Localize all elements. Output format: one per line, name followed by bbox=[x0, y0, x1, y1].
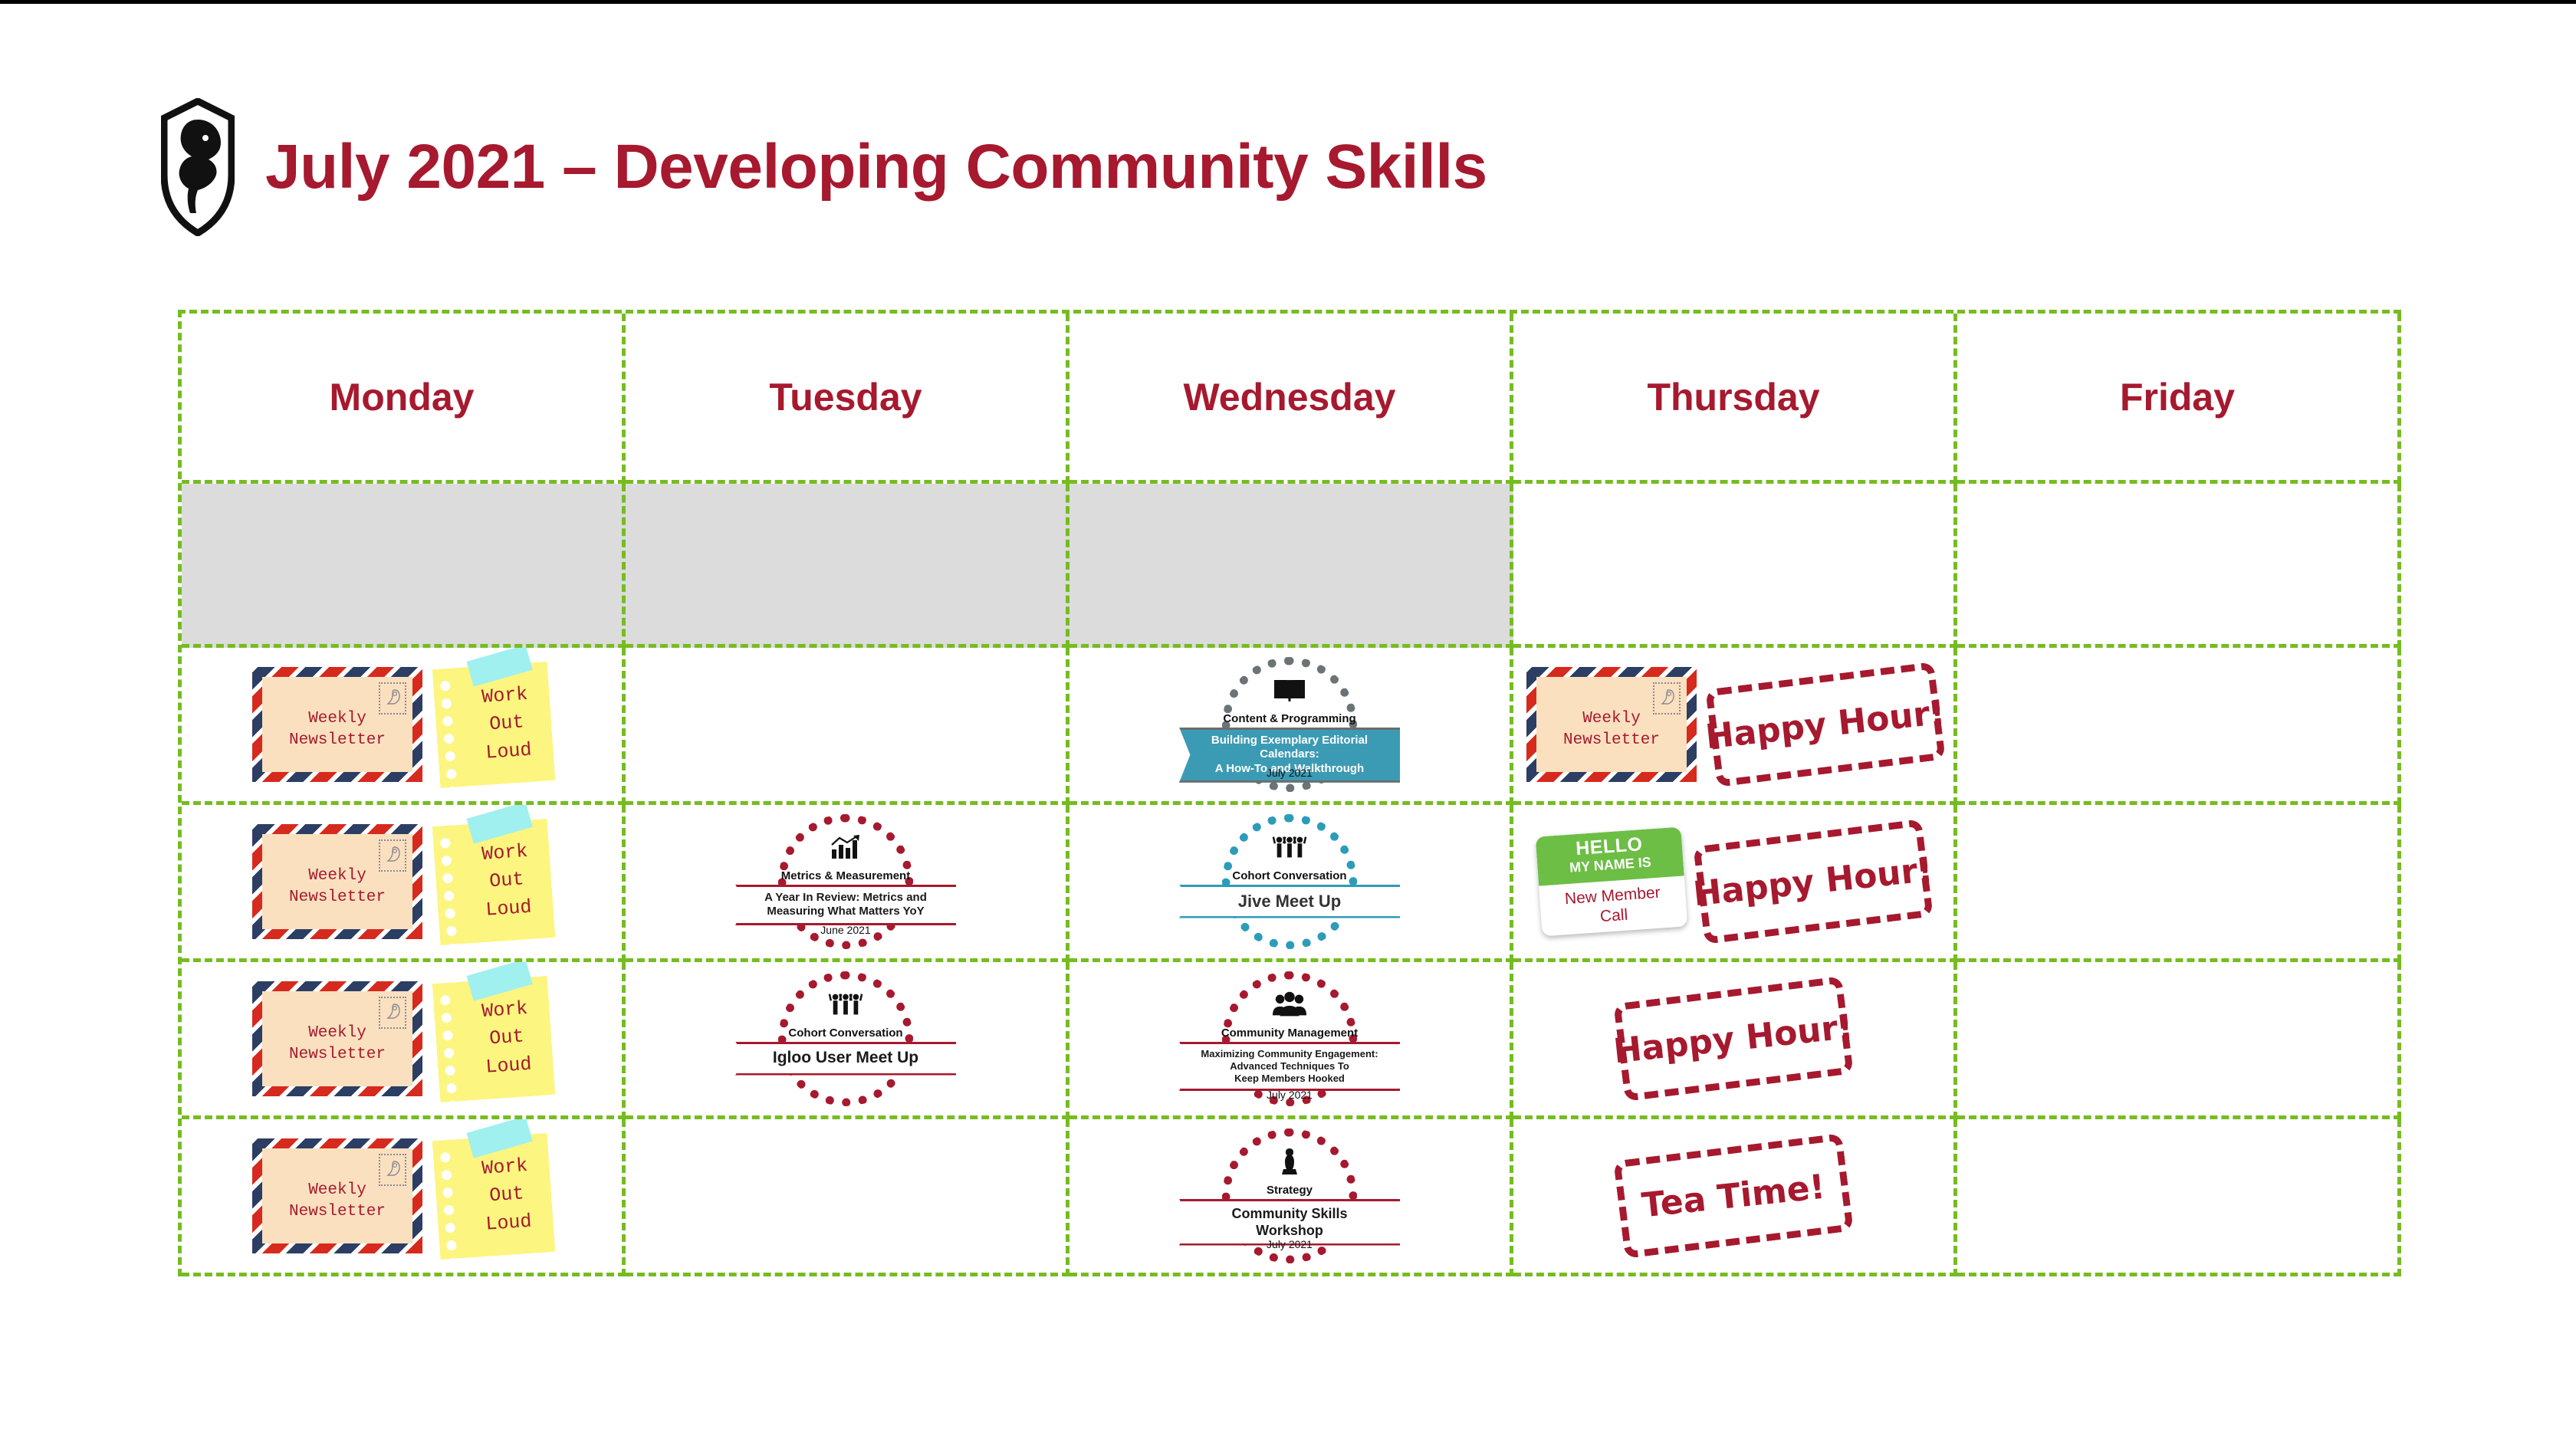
day-header-label: Monday bbox=[330, 375, 475, 419]
chess-piece-icon bbox=[1272, 1145, 1307, 1178]
badge-title-line-2: Measuring What Matters YoY bbox=[764, 905, 927, 919]
badge-ribbon: Igloo User Meet Up bbox=[735, 1042, 956, 1076]
note-line-1: Work bbox=[481, 680, 528, 711]
badge-date: July 2021 bbox=[1175, 1238, 1405, 1250]
envelope-line-1: Weekly bbox=[1582, 708, 1641, 730]
cell-thursday-week4[interactable]: Tea Time! bbox=[1513, 1119, 1957, 1276]
badge-community-skills-workshop[interactable]: Strategy Community Skills Workshop July … bbox=[1175, 1125, 1405, 1267]
day-header-label: Tuesday bbox=[769, 375, 922, 419]
work-out-loud-note[interactable]: Work Out Loud bbox=[432, 1132, 555, 1259]
cell-wednesday-week4[interactable]: Strategy Community Skills Workshop July … bbox=[1069, 1119, 1513, 1276]
happy-hour-stamp[interactable]: Happy Hour! bbox=[1693, 819, 1933, 944]
badge-title-line-1: Maximizing Community Engagement: bbox=[1201, 1048, 1378, 1060]
calendar-week-row-4: Weekly Newsletter Work Out Loud bbox=[182, 1119, 2401, 1276]
cell-friday-week4 bbox=[1957, 1119, 2401, 1276]
note-text: Work Out Loud bbox=[432, 1132, 555, 1259]
work-out-loud-note[interactable]: Work Out Loud bbox=[432, 975, 555, 1102]
stamp-label: Tea Time! bbox=[1640, 1167, 1827, 1225]
three-people-cheering-icon bbox=[1272, 831, 1307, 863]
note-line-2: Out bbox=[488, 1180, 524, 1210]
note-line-2: Out bbox=[488, 866, 524, 895]
cell-friday-week3 bbox=[1957, 962, 2401, 1119]
envelope-line-1: Weekly bbox=[308, 866, 366, 887]
badge-date: June 2021 bbox=[731, 924, 961, 936]
cell-wednesday-week3[interactable]: Community Management Maximizing Communit… bbox=[1069, 962, 1513, 1119]
envelope-line-2: Newsletter bbox=[289, 1201, 386, 1223]
cell-wednesday-week2[interactable]: Cohort Conversation Jive Meet Up bbox=[1069, 805, 1513, 962]
badge-title-line-1: Community Skills Workshop bbox=[1199, 1205, 1380, 1240]
badge-year-in-review[interactable]: Metrics & Measurement A Year In Review: … bbox=[731, 811, 961, 953]
day-header-label: Thursday bbox=[1647, 375, 1819, 419]
badge-title-line-3: Keep Members Hooked bbox=[1201, 1073, 1378, 1085]
badge-ribbon: Maximizing Community Engagement: Advance… bbox=[1179, 1042, 1400, 1092]
badge-title-line-1: Igloo User Meet Up bbox=[773, 1048, 918, 1068]
note-line-2: Out bbox=[488, 1023, 524, 1053]
envelope-text: Weekly Newsletter bbox=[262, 991, 412, 1086]
weekly-newsletter-envelope[interactable]: Weekly Newsletter bbox=[1526, 667, 1697, 782]
cell-tuesday-week4 bbox=[626, 1119, 1069, 1276]
people-group-icon bbox=[1272, 988, 1307, 1020]
note-text: Work Out Loud bbox=[432, 818, 555, 944]
cell-tuesday-week2[interactable]: Metrics & Measurement A Year In Review: … bbox=[626, 805, 1069, 962]
envelope-line-2: Newsletter bbox=[289, 1044, 386, 1066]
cell-tuesday-week1 bbox=[626, 648, 1069, 805]
envelope-text: Weekly Newsletter bbox=[262, 1148, 412, 1243]
envelope-line-1: Weekly bbox=[308, 1180, 366, 1201]
note-text: Work Out Loud bbox=[432, 975, 555, 1102]
cell-monday-week2[interactable]: Weekly Newsletter Work Out Loud bbox=[182, 805, 626, 962]
happy-hour-stamp[interactable]: Happy Hour! bbox=[1613, 976, 1853, 1102]
three-people-cheering-icon bbox=[828, 988, 863, 1020]
work-out-loud-note[interactable]: Work Out Loud bbox=[432, 818, 555, 944]
envelope-line-2: Newsletter bbox=[1563, 730, 1660, 751]
slide-top-rule bbox=[0, 0, 2576, 4]
bar-chart-arrow-icon bbox=[828, 831, 863, 863]
calendar-header-row: Monday Tuesday Wednesday Thursday Friday bbox=[182, 314, 2401, 484]
cell-thursday-week1[interactable]: Weekly Newsletter Happy Hour! bbox=[1513, 648, 1957, 805]
badge-title-line-1: Building Exemplary Editorial Calendars: bbox=[1199, 734, 1380, 763]
badge-maximizing-engagement[interactable]: Community Management Maximizing Communit… bbox=[1175, 968, 1405, 1110]
badge-title-line-1: A Year In Review: Metrics and bbox=[764, 891, 927, 905]
note-line-3: Loud bbox=[485, 736, 532, 767]
calendar-week-row-1: Weekly Newsletter Work Out Loud bbox=[182, 648, 2401, 805]
slide-header: July 2021 – Developing Community Skills bbox=[161, 98, 1487, 236]
weekly-newsletter-envelope[interactable]: Weekly Newsletter bbox=[252, 667, 422, 782]
cell-wednesday-week1[interactable]: Content & Programming Building Exemplary… bbox=[1069, 648, 1513, 805]
weekly-newsletter-envelope[interactable]: Weekly Newsletter bbox=[252, 1138, 422, 1253]
badge-title-line-2: Advanced Techniques To bbox=[1201, 1060, 1378, 1073]
shield-knight-logo-icon bbox=[161, 98, 235, 236]
tea-time-stamp[interactable]: Tea Time! bbox=[1613, 1133, 1853, 1259]
cell-friday-week2 bbox=[1957, 805, 2401, 962]
note-line-2: Out bbox=[488, 708, 524, 738]
weekly-newsletter-envelope[interactable]: Weekly Newsletter bbox=[252, 981, 422, 1096]
badge-category: Cohort Conversation bbox=[731, 1027, 961, 1040]
envelope-line-1: Weekly bbox=[308, 708, 366, 730]
badge-category: Community Management bbox=[1175, 1027, 1405, 1040]
happy-hour-stamp[interactable]: Happy Hour! bbox=[1705, 662, 1945, 787]
calendar-blocked-row bbox=[182, 484, 2401, 648]
badge-category: Cohort Conversation bbox=[1175, 869, 1405, 882]
cell-monday-week1[interactable]: Weekly Newsletter Work Out Loud bbox=[182, 648, 626, 805]
blocked-cell-monday bbox=[182, 484, 626, 648]
calendar-week-row-2: Weekly Newsletter Work Out Loud bbox=[182, 805, 2401, 962]
badge-ribbon: Jive Meet Up bbox=[1179, 885, 1400, 918]
day-header-monday: Monday bbox=[182, 314, 626, 484]
day-header-label: Friday bbox=[2120, 375, 2235, 419]
note-line-1: Work bbox=[481, 1151, 528, 1182]
stamp-label: Happy Hour! bbox=[1704, 692, 1947, 757]
badge-category: Strategy bbox=[1175, 1184, 1405, 1197]
badge-date: July 2021 bbox=[1175, 767, 1405, 779]
nametag-body: New Member Call bbox=[1539, 875, 1687, 936]
note-text: Work Out Loud bbox=[432, 661, 555, 787]
envelope-text: Weekly Newsletter bbox=[262, 834, 412, 929]
cell-friday-week1 bbox=[1957, 648, 2401, 805]
envelope-text: Weekly Newsletter bbox=[1536, 677, 1687, 772]
weekly-newsletter-envelope[interactable]: Weekly Newsletter bbox=[252, 824, 422, 939]
blocked-cell-tuesday bbox=[626, 484, 1069, 648]
day-header-tuesday: Tuesday bbox=[626, 314, 1069, 484]
badge-editorial-calendars[interactable]: Content & Programming Building Exemplary… bbox=[1175, 654, 1405, 796]
blocked-cell-thursday bbox=[1513, 484, 1957, 648]
note-line-1: Work bbox=[481, 837, 528, 868]
badge-title-line-1: Jive Meet Up bbox=[1238, 891, 1342, 912]
day-header-wednesday: Wednesday bbox=[1069, 314, 1513, 484]
cell-monday-week4[interactable]: Weekly Newsletter Work Out Loud bbox=[182, 1119, 626, 1276]
new-member-call-nametag[interactable]: HELLO MY NAME IS New Member Call bbox=[1536, 827, 1688, 937]
cell-tuesday-week3[interactable]: Cohort Conversation Igloo User Meet Up bbox=[626, 962, 1069, 1119]
envelope-line-1: Weekly bbox=[308, 1023, 366, 1044]
badge-ribbon: A Year In Review: Metrics and Measuring … bbox=[735, 885, 956, 926]
note-line-3: Loud bbox=[485, 893, 532, 924]
work-out-loud-note[interactable]: Work Out Loud bbox=[432, 661, 555, 787]
note-line-3: Loud bbox=[485, 1207, 532, 1238]
note-line-1: Work bbox=[481, 994, 528, 1025]
envelope-line-2: Newsletter bbox=[289, 730, 386, 751]
blocked-cell-wednesday bbox=[1069, 484, 1513, 648]
day-header-thursday: Thursday bbox=[1513, 314, 1957, 484]
blocked-cell-friday bbox=[1957, 484, 2401, 648]
day-header-friday: Friday bbox=[1957, 314, 2401, 484]
cell-monday-week3[interactable]: Weekly Newsletter Work Out Loud bbox=[182, 962, 626, 1119]
stamp-label: Happy Hour! bbox=[1612, 1007, 1855, 1071]
open-book-icon bbox=[1272, 674, 1307, 706]
cell-thursday-week3[interactable]: Happy Hour! bbox=[1513, 962, 1957, 1119]
page-title: July 2021 – Developing Community Skills bbox=[265, 131, 1487, 203]
cell-thursday-week2[interactable]: HELLO MY NAME IS New Member Call Happy H… bbox=[1513, 805, 1957, 962]
badge-date: July 2021 bbox=[1175, 1089, 1405, 1101]
day-header-label: Wednesday bbox=[1184, 375, 1396, 419]
note-line-3: Loud bbox=[485, 1050, 532, 1081]
calendar-week-row-3: Weekly Newsletter Work Out Loud bbox=[182, 962, 2401, 1119]
badge-category: Content & Programming bbox=[1175, 712, 1405, 725]
envelope-line-2: Newsletter bbox=[289, 887, 386, 908]
stamp-label: Happy Hour! bbox=[1691, 849, 1934, 914]
envelope-text: Weekly Newsletter bbox=[262, 677, 412, 772]
badge-jive-meet-up[interactable]: Cohort Conversation Jive Meet Up bbox=[1175, 811, 1405, 953]
calendar-grid: Monday Tuesday Wednesday Thursday Friday bbox=[178, 310, 2401, 1276]
badge-category: Metrics & Measurement bbox=[731, 869, 961, 882]
badge-igloo-user-meet-up[interactable]: Cohort Conversation Igloo User Meet Up bbox=[731, 968, 961, 1110]
